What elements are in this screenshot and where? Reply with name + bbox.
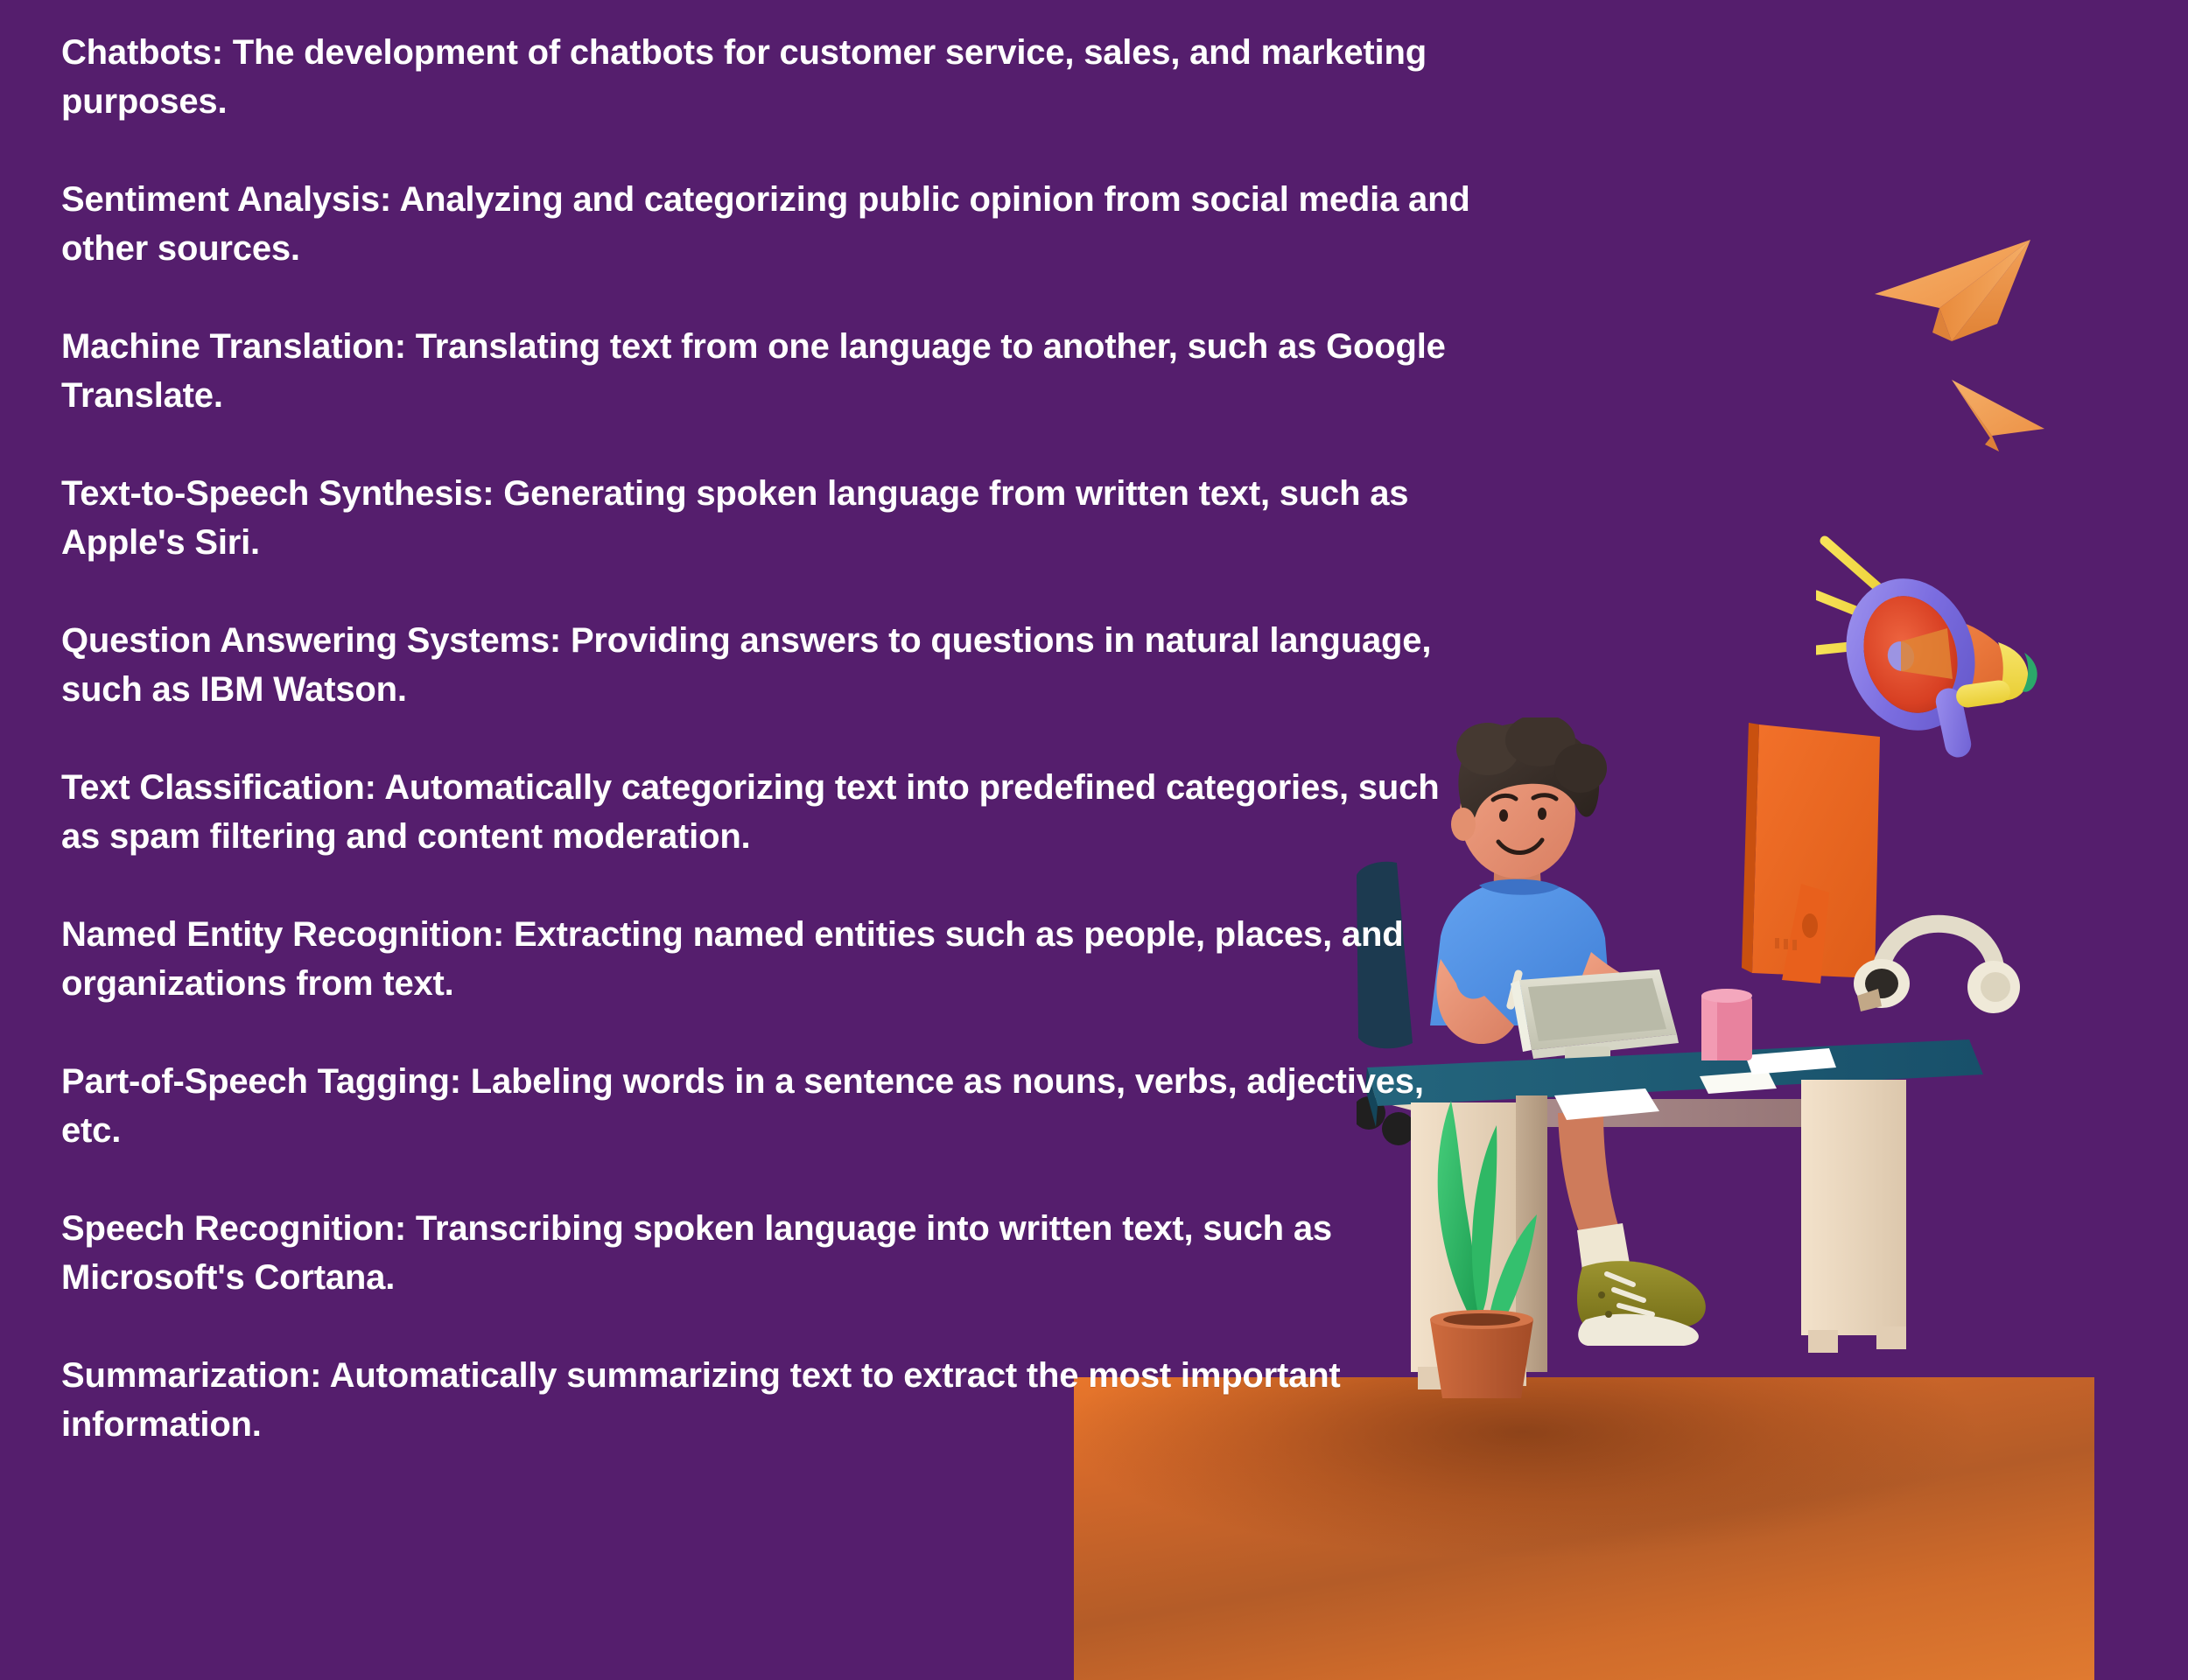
paragraph-text-classification: Text Classification: Automatically categ… xyxy=(61,763,1479,861)
paper-plane-large-icon xyxy=(1866,234,2041,361)
coffee-mug xyxy=(1701,989,1752,1060)
leg-and-shoe xyxy=(1558,1113,1706,1346)
paper-plane-small-icon xyxy=(1946,374,2051,453)
paragraph-text-to-speech: Text-to-Speech Synthesis: Generating spo… xyxy=(61,469,1479,567)
paragraph-chatbots: Chatbots: The development of chatbots fo… xyxy=(61,28,1479,126)
desktop-monitor xyxy=(1742,723,1880,983)
paragraph-pos-tagging: Part-of-Speech Tagging: Labeling words i… xyxy=(61,1057,1479,1155)
headphones xyxy=(1854,924,2020,1013)
paragraph-summarization: Summarization: Automatically summarizing… xyxy=(61,1351,1479,1449)
paragraph-sentiment-analysis: Sentiment Analysis: Analyzing and catego… xyxy=(61,175,1479,273)
slide-canvas: Chatbots: The development of chatbots fo… xyxy=(0,0,2188,1680)
paragraph-named-entity: Named Entity Recognition: Extracting nam… xyxy=(61,910,1479,1008)
paragraph-machine-translation: Machine Translation: Translating text fr… xyxy=(61,322,1479,420)
paragraph-speech-recognition: Speech Recognition: Transcribing spoken … xyxy=(61,1204,1479,1302)
body-text-column: Chatbots: The development of chatbots fo… xyxy=(61,28,1479,1449)
paragraph-question-answering: Question Answering Systems: Providing an… xyxy=(61,616,1479,714)
